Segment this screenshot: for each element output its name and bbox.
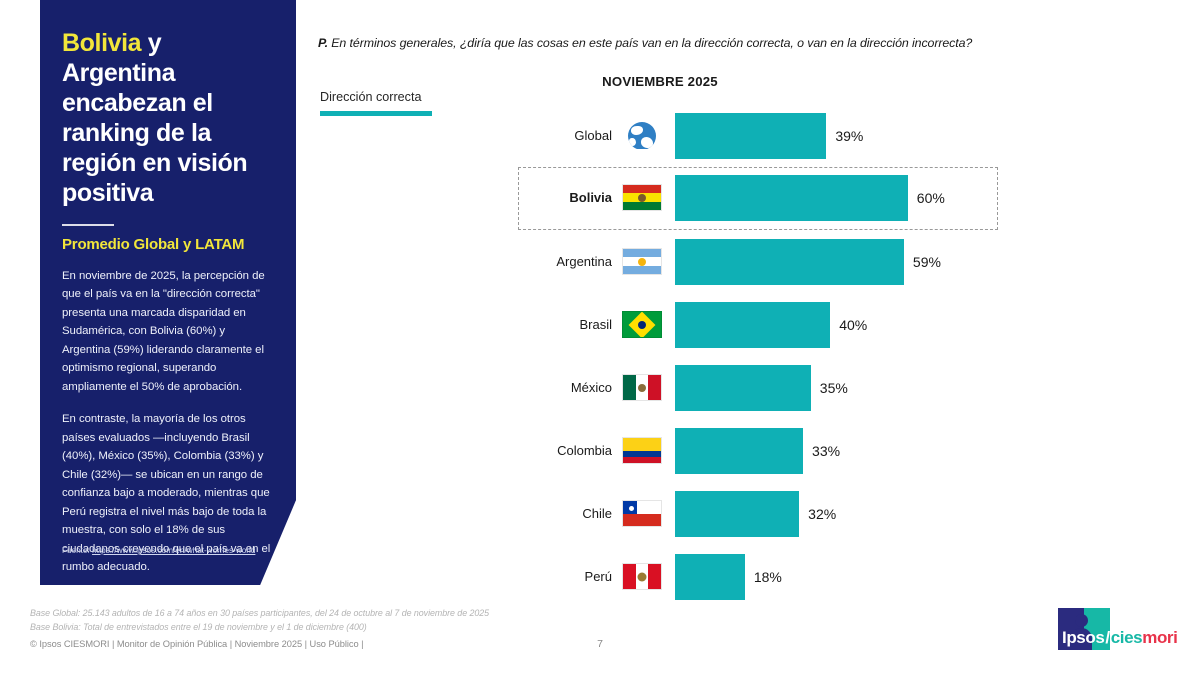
bar-value-label: 35% <box>811 380 848 396</box>
bar-value-label: 18% <box>745 569 782 585</box>
bar-container: 32% <box>662 491 998 537</box>
source-note: Fuente: https://www.ipsos.com/en/what-wo… <box>62 545 277 557</box>
bar-container: 40% <box>662 302 998 348</box>
logo-cies-text: cies <box>1111 628 1143 647</box>
flag-chile-icon <box>622 500 662 527</box>
chart-row: Argentina59% <box>518 230 998 293</box>
chart-row: Chile32% <box>518 482 998 545</box>
bar <box>675 428 803 474</box>
base-bolivia-note: Base Bolivia: Total de entrevistados ent… <box>30 620 489 634</box>
bar-container: 39% <box>662 113 998 159</box>
bar-value-label: 60% <box>908 190 945 206</box>
logo-wordmark: Ipsos/ciesmori <box>1062 628 1177 648</box>
page-number: 7 <box>0 638 1200 650</box>
category-label: Chile <box>518 506 622 521</box>
bar-value-label: 32% <box>799 506 836 522</box>
page-title: Bolivia y Argentina encabezan el ranking… <box>62 28 274 208</box>
bar <box>675 175 908 221</box>
flag-mexico-icon <box>622 374 662 401</box>
chart-legend: Dirección correcta <box>320 90 432 116</box>
legend-label: Dirección correcta <box>320 90 432 104</box>
bar <box>675 302 830 348</box>
chart-row: Global39% <box>518 104 998 167</box>
category-label: México <box>518 380 622 395</box>
headline-highlight: Bolivia <box>62 29 141 57</box>
bar-value-label: 33% <box>803 443 840 459</box>
base-global-note: Base Global: 25.143 adultos de 16 a 74 a… <box>30 606 489 620</box>
chart-period-header: NOVIEMBRE 2025 <box>0 74 1200 89</box>
question-label: P. <box>318 36 328 50</box>
flag-argentina-icon <box>622 248 662 275</box>
chart-row: México35% <box>518 356 998 419</box>
flag-peru-icon <box>622 563 662 590</box>
bar <box>675 554 745 600</box>
category-label: Brasil <box>518 317 622 332</box>
bar <box>675 365 811 411</box>
legend-color-swatch <box>320 111 432 116</box>
title-divider <box>62 224 114 226</box>
bar-value-label: 59% <box>904 254 941 270</box>
bar <box>675 239 904 285</box>
sidebar-paragraph-1: En noviembre de 2025, la percepción de q… <box>62 267 274 396</box>
bar-container: 33% <box>662 428 998 474</box>
sidebar-subheading: Promedio Global y LATAM <box>62 236 274 253</box>
bar-value-label: 39% <box>826 128 863 144</box>
chart-row: Perú18% <box>518 545 998 608</box>
question-text: P. En términos generales, ¿diría que las… <box>318 36 1118 50</box>
chart-row: Bolivia60% <box>518 167 998 230</box>
bar-container: 35% <box>662 365 998 411</box>
flag-brazil-icon <box>622 311 662 338</box>
category-label: Argentina <box>518 254 622 269</box>
category-label: Bolivia <box>518 190 622 205</box>
logo-head-shape <box>1075 614 1088 627</box>
slide-canvas: Bolivia y Argentina encabezan el ranking… <box>0 0 1200 675</box>
globe-icon <box>622 122 662 149</box>
bar-container: 59% <box>662 239 998 285</box>
category-label: Perú <box>518 569 622 584</box>
chart-row: Brasil40% <box>518 293 998 356</box>
bar-container: 18% <box>662 554 998 600</box>
category-label: Global <box>518 128 622 143</box>
bar <box>675 113 826 159</box>
source-label: Fuente: <box>62 546 92 555</box>
flag-bolivia-icon <box>622 184 662 211</box>
category-label: Colombia <box>518 443 622 458</box>
bar <box>675 491 799 537</box>
chart-row: Colombia33% <box>518 419 998 482</box>
bar-container: 60% <box>662 175 996 221</box>
question-body: En términos generales, ¿diría que las co… <box>328 36 972 50</box>
bar-value-label: 40% <box>830 317 867 333</box>
globe-icon <box>628 122 656 149</box>
ipsos-ciesmori-logo: Ipsos/ciesmori <box>1052 606 1182 652</box>
flag-colombia-icon <box>622 437 662 464</box>
logo-ipsos-text: Ipsos <box>1062 628 1104 647</box>
bar-chart: Global39%Bolivia60%Argentina59%Brasil40%… <box>518 104 998 608</box>
source-link[interactable]: https://www.ipsos.com/en/what-worries-wo… <box>92 546 255 555</box>
logo-mori-text: mori <box>1142 628 1177 647</box>
base-notes: Base Global: 25.143 adultos de 16 a 74 a… <box>30 606 489 635</box>
